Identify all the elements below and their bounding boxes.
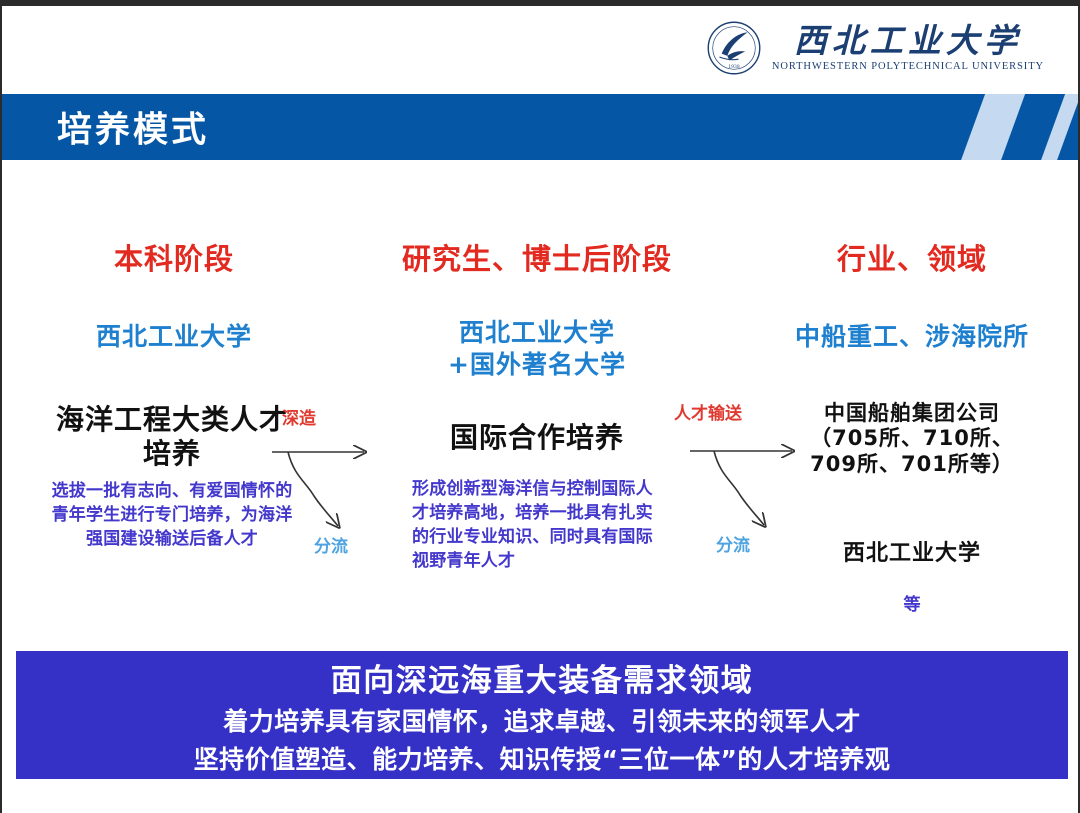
column1-subtitle: 西北工业大学 xyxy=(24,321,324,353)
column3-heading: 行业、领域 xyxy=(762,242,1062,277)
slide-title-bar: 培养模式 xyxy=(2,94,1080,160)
slide-canvas: 1938 西北工业大学 NORTHWESTERN POLYTECHNICAL U… xyxy=(0,0,1080,813)
banner-line-1: 面向深远海重大装备需求领域 xyxy=(331,655,754,700)
svg-text:1938: 1938 xyxy=(728,64,740,70)
arrow-group-undergrad-to-grad: 深造 分流 xyxy=(272,404,412,574)
column2-body-text: 形成创新型海洋信与控制国际人才培养高地，培养一批具有扎实的行业专业知识、同时具有… xyxy=(412,477,662,574)
title-stripe-decoration-small xyxy=(1035,94,1080,160)
column2-subtitle-line2: +国外著名大学 xyxy=(372,349,702,381)
university-logo: 1938 西北工业大学 NORTHWESTERN POLYTECHNICAL U… xyxy=(706,20,1044,76)
column2-main-text: 国际合作培养 xyxy=(372,421,702,455)
arrow-group-grad-to-industry: 人才输送 分流 xyxy=(670,399,820,569)
banner-line-3: 坚持价值塑造、能力培养、知识传授“三位一体”的人才培养观 xyxy=(194,740,891,776)
column1-heading: 本科阶段 xyxy=(24,242,324,277)
title-stripe-decoration xyxy=(955,94,1030,160)
banner-line-2: 着力培养具有家国情怀，追求卓越、引领未来的领军人才 xyxy=(223,702,861,738)
column2-heading: 研究生、博士后阶段 xyxy=(372,242,702,277)
logo-wordmark: 西北工业大学 NORTHWESTERN POLYTECHNICAL UNIVER… xyxy=(772,24,1044,72)
column3-etc-text: 等 xyxy=(762,590,1062,615)
bottom-banner: 面向深远海重大装备需求领域 着力培养具有家国情怀，追求卓越、引领未来的领军人才 … xyxy=(16,651,1068,779)
arrow1-branch-curve xyxy=(288,452,338,526)
nwpu-seal-icon: 1938 xyxy=(706,20,762,76)
arrow1-shapes xyxy=(272,404,412,574)
column1-body-text: 选拔一批有志向、有爱国情怀的青年学生进行专门培养，为海洋强国建设输送后备人才 xyxy=(48,479,296,551)
logo-chinese-name: 西北工业大学 xyxy=(794,24,1022,59)
column2-subtitle: 西北工业大学 +国外著名大学 xyxy=(372,317,702,381)
stage-column-graduate: 研究生、博士后阶段 西北工业大学 +国外著名大学 国际合作培养 形成创新型海洋信… xyxy=(372,242,702,573)
column1-main-text: 海洋工程大类人才培养 xyxy=(52,403,292,471)
page-title: 培养模式 xyxy=(57,102,209,153)
logo-english-name: NORTHWESTERN POLYTECHNICAL UNIVERSITY xyxy=(772,61,1044,72)
column2-subtitle-line1: 西北工业大学 xyxy=(372,317,702,349)
arrow2-shapes xyxy=(670,399,820,569)
arrow2-branch-curve xyxy=(714,451,764,525)
column3-subtitle: 中船重工、涉海院所 xyxy=(762,321,1062,353)
